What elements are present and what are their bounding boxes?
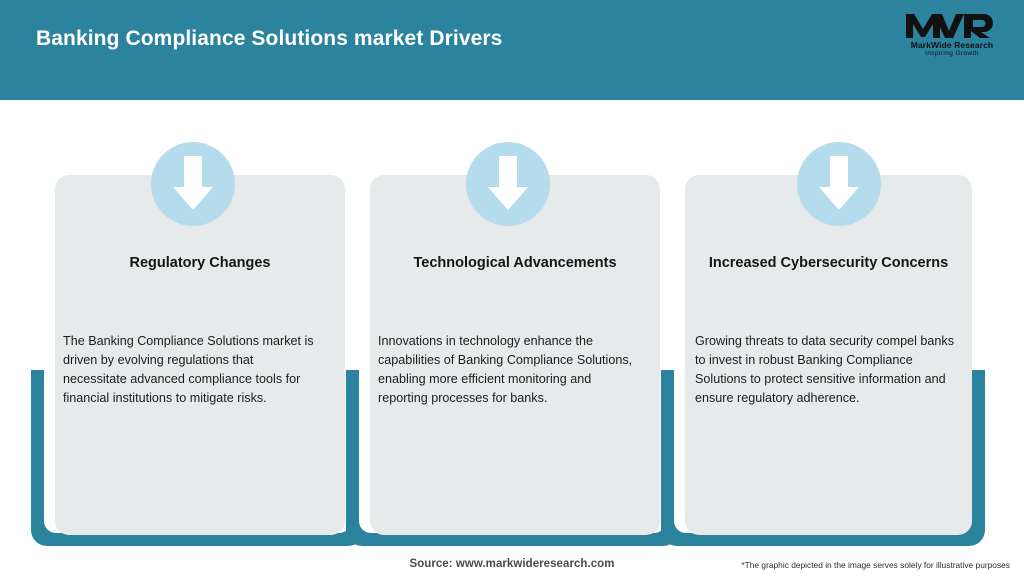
driver-card-body-2: Innovations in technology enhance the ca… (370, 332, 660, 409)
logo-tagline: Inspiring Growth (925, 51, 979, 58)
arrow-down-icon (151, 142, 235, 226)
driver-card-heading-2: Technological Advancements (386, 253, 644, 275)
arrow-down-icon (797, 142, 881, 226)
arrow-down-icon (466, 142, 550, 226)
slide-header: Banking Compliance Solutions market Driv… (0, 0, 1024, 100)
page-title: Banking Compliance Solutions market Driv… (36, 27, 502, 51)
driver-card-body-1: The Banking Compliance Solutions market … (55, 332, 345, 409)
driver-card-1[interactable]: Regulatory Changes The Banking Complianc… (55, 175, 345, 535)
driver-card-2[interactable]: Technological Advancements Innovations i… (370, 175, 660, 535)
driver-card-icon-wrap-1 (151, 142, 235, 226)
mwr-logo-icon (904, 10, 1000, 40)
slide-canvas: Banking Compliance Solutions market Driv… (0, 0, 1024, 576)
driver-card-body-3: Growing threats to data security compel … (685, 332, 972, 409)
driver-card-icon-wrap-2 (466, 142, 550, 226)
brand-logo: MarkWide Research Inspiring Growth (898, 10, 1006, 62)
driver-card-heading-1: Regulatory Changes (71, 253, 329, 275)
driver-card-icon-wrap-3 (797, 142, 881, 226)
driver-card-3[interactable]: Increased Cybersecurity Concerns Growing… (685, 175, 972, 535)
driver-card-heading-3: Increased Cybersecurity Concerns (701, 253, 956, 275)
disclaimer-label: *The graphic depicted in the image serve… (741, 560, 1010, 570)
logo-company-name: MarkWide Research (911, 41, 993, 50)
